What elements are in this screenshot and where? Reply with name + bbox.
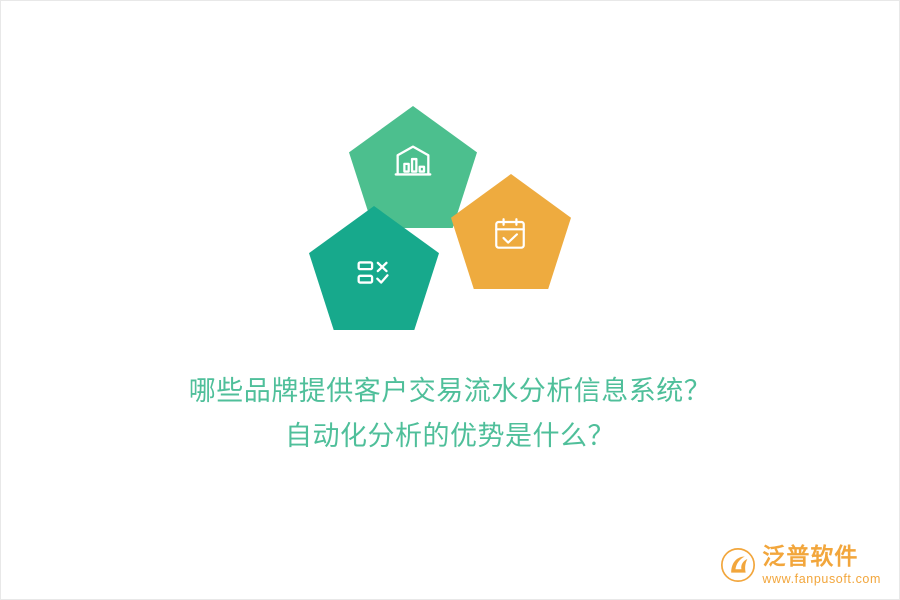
brand-url: www.fanpusoft.com bbox=[762, 573, 881, 586]
calendar-check-icon bbox=[488, 211, 534, 257]
brand-logo: 泛普软件 www.fanpusoft.com bbox=[721, 546, 881, 586]
page-title-line-1: 哪些品牌提供客户交易流水分析信息系统？ bbox=[1, 369, 899, 414]
pentagon-cluster bbox=[301, 106, 571, 346]
brand-logo-text: 泛普软件 www.fanpusoft.com bbox=[762, 546, 881, 586]
page-title-line-2: 自动化分析的优势是什么？ bbox=[1, 414, 899, 459]
building-chart-icon bbox=[390, 138, 436, 184]
pentagon-green bbox=[349, 106, 477, 228]
poster-canvas: 哪些品牌提供客户交易流水分析信息系统？ 自动化分析的优势是什么？ 泛普软件 ww… bbox=[1, 1, 899, 599]
pentagon-orange bbox=[451, 174, 571, 289]
brand-name: 泛普软件 bbox=[762, 546, 881, 569]
page-title: 哪些品牌提供客户交易流水分析信息系统？ 自动化分析的优势是什么？ bbox=[1, 369, 899, 459]
checklist-icon bbox=[351, 249, 397, 295]
fanpu-logo-icon bbox=[721, 548, 755, 582]
